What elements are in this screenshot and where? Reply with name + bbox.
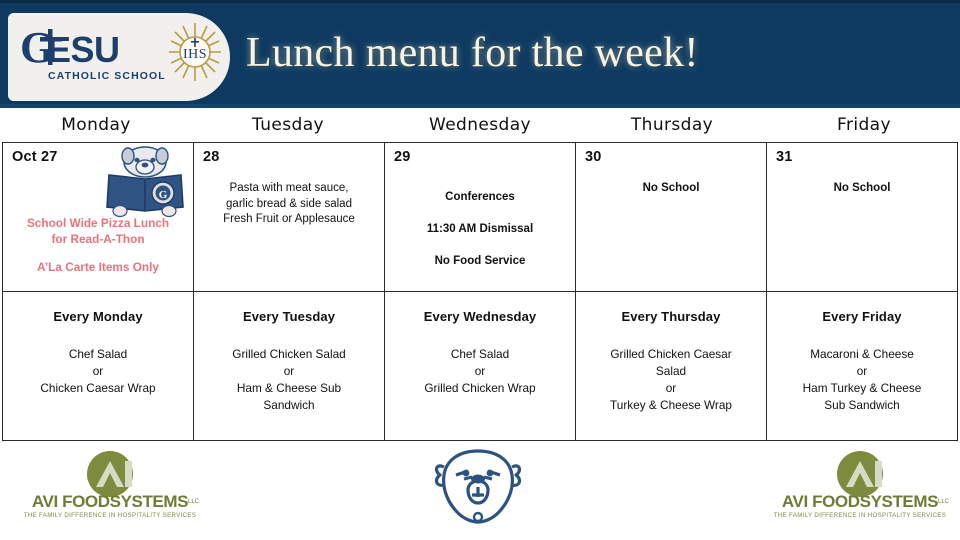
recurring-cell-friday: Every Friday Macaroni & Cheese or Ham Tu… [767, 292, 958, 441]
menu-line: Chef Salad [69, 347, 127, 361]
lunch-menu-calendar: Oct 27 G [2, 142, 958, 441]
calendar-cell-tuesday: 28 Pasta with meat sauce, garlic bread &… [194, 143, 385, 292]
calendar-cell-friday: 31 No School [767, 143, 958, 292]
svg-text:THE FAMILY DIFFERENCE IN HOSPI: THE FAMILY DIFFERENCE IN HOSPITALITY SER… [24, 512, 196, 519]
ihs-sunburst-emblem-icon: IHS [166, 21, 224, 83]
menu-line: 11:30 AM Dismissal [427, 223, 533, 235]
menu-text-thursday: No School [576, 181, 766, 197]
menu-line: Pasta with meat sauce, [230, 182, 349, 194]
menu-line: Ham Turkey & Cheese [803, 381, 922, 395]
school-logo-subtitle: CATHOLIC SCHOOL [48, 70, 166, 82]
recurring-title-thursday: Every Thursday [576, 292, 766, 324]
calendar-cell-thursday: 30 No School [576, 143, 767, 292]
menu-line: Grilled Chicken Salad [232, 347, 345, 361]
bulldog-reading-book-icon: G [103, 145, 187, 219]
svg-text:G: G [159, 189, 168, 201]
menu-line: or [284, 364, 295, 378]
avi-foodsystems-logo-icon-left: AVI FOODSYSTEMS LLC THE FAMILY DIFFERENC… [12, 449, 208, 523]
recurring-title-monday: Every Monday [3, 292, 193, 324]
menu-text-wednesday: Conferences 11:30 AM Dismissal No Food S… [385, 181, 575, 277]
menu-line: or [475, 364, 486, 378]
day-name-tuesday: Tuesday [192, 108, 384, 142]
svg-text:AVI FOODSYSTEMS: AVI FOODSYSTEMS [32, 492, 188, 511]
recurring-items-tuesday: Grilled Chicken Salad or Ham & Cheese Su… [194, 324, 384, 414]
date-label-wednesday: 29 [394, 149, 411, 165]
calendar-row-recurring: Every Monday Chef Salad or Chicken Caesa… [3, 292, 958, 441]
menu-line: or [857, 364, 868, 378]
svg-text:LLC: LLC [188, 499, 200, 505]
menu-line: No School [643, 182, 700, 194]
menu-line: garlic bread & side salad [226, 198, 352, 210]
recurring-cell-monday: Every Monday Chef Salad or Chicken Caesa… [3, 292, 194, 441]
school-logo: G ESU CATHOLIC SCHOOL [8, 13, 230, 101]
menu-line: Grilled Chicken Wrap [424, 381, 535, 395]
menu-line: Salad [656, 364, 686, 378]
recurring-items-wednesday: Chef Salad or Grilled Chicken Wrap [385, 324, 575, 397]
page-footer: AVI FOODSYSTEMS LLC THE FAMILY DIFFERENC… [0, 441, 960, 533]
menu-line: Fresh Fruit or Applesauce [223, 213, 355, 225]
bulldog-mascot-logo-icon [428, 445, 528, 525]
day-name-monday: Monday [0, 108, 192, 142]
recurring-items-monday: Chef Salad or Chicken Caesar Wrap [3, 324, 193, 397]
menu-line: A’La Carte Items Only [37, 260, 159, 274]
calendar-row-dates: Oct 27 G [3, 143, 958, 292]
menu-text-tuesday: Pasta with meat sauce, garlic bread & si… [194, 181, 384, 228]
menu-line: for Read-A-Thon [51, 232, 144, 246]
gesu-wordmark-icon: G ESU [20, 25, 172, 71]
svg-text:ESU: ESU [47, 29, 120, 70]
recurring-title-friday: Every Friday [767, 292, 957, 324]
svg-text:AVI FOODSYSTEMS: AVI FOODSYSTEMS [782, 492, 938, 511]
day-name-friday: Friday [768, 108, 960, 142]
date-label-thursday: 30 [585, 149, 602, 165]
recurring-cell-tuesday: Every Tuesday Grilled Chicken Salad or H… [194, 292, 385, 441]
page-title: Lunch menu for the week! [246, 29, 699, 77]
recurring-cell-thursday: Every Thursday Grilled Chicken Caesar Sa… [576, 292, 767, 441]
menu-line: Conferences [445, 191, 515, 203]
recurring-items-thursday: Grilled Chicken Caesar Salad or Turkey &… [576, 324, 766, 414]
recurring-title-tuesday: Every Tuesday [194, 292, 384, 324]
menu-line: Grilled Chicken Caesar [610, 347, 731, 361]
menu-line: Sub Sandwich [824, 398, 899, 412]
menu-line: Sandwich [263, 398, 314, 412]
recurring-cell-wednesday: Every Wednesday Chef Salad or Grilled Ch… [385, 292, 576, 441]
day-name-thursday: Thursday [576, 108, 768, 142]
menu-line: No School [834, 182, 891, 194]
menu-line: Chef Salad [451, 347, 509, 361]
menu-line: Ham & Cheese Sub [237, 381, 341, 395]
date-label-monday: Oct 27 [12, 149, 58, 165]
menu-line: Macaroni & Cheese [810, 347, 914, 361]
svg-text:IHS: IHS [183, 47, 207, 62]
menu-line: or [666, 381, 677, 395]
avi-foodsystems-logo-icon-right: AVI FOODSYSTEMS LLC THE FAMILY DIFFERENC… [762, 449, 958, 523]
menu-line: or [93, 364, 104, 378]
recurring-title-wednesday: Every Wednesday [385, 292, 575, 324]
date-label-tuesday: 28 [203, 149, 220, 165]
menu-line: Turkey & Cheese Wrap [610, 398, 732, 412]
calendar-cell-wednesday: 29 Conferences 11:30 AM Dismissal No Foo… [385, 143, 576, 292]
menu-text-monday: School Wide Pizza Lunch for Read-A-Thon … [3, 215, 193, 275]
menu-text-friday: No School [767, 181, 957, 197]
date-label-friday: 31 [776, 149, 793, 165]
page-header: G ESU CATHOLIC SCHOOL [0, 0, 960, 108]
calendar-cell-monday: Oct 27 G [3, 143, 194, 292]
recurring-items-friday: Macaroni & Cheese or Ham Turkey & Cheese… [767, 324, 957, 414]
menu-line: No Food Service [435, 255, 526, 267]
day-name-wednesday: Wednesday [384, 108, 576, 142]
svg-text:LLC: LLC [938, 499, 950, 505]
menu-line: School Wide Pizza Lunch [27, 216, 169, 230]
day-name-row: Monday Tuesday Wednesday Thursday Friday [0, 108, 960, 142]
svg-text:THE FAMILY DIFFERENCE IN HOSPI: THE FAMILY DIFFERENCE IN HOSPITALITY SER… [774, 512, 946, 519]
menu-line: Chicken Caesar Wrap [40, 381, 155, 395]
